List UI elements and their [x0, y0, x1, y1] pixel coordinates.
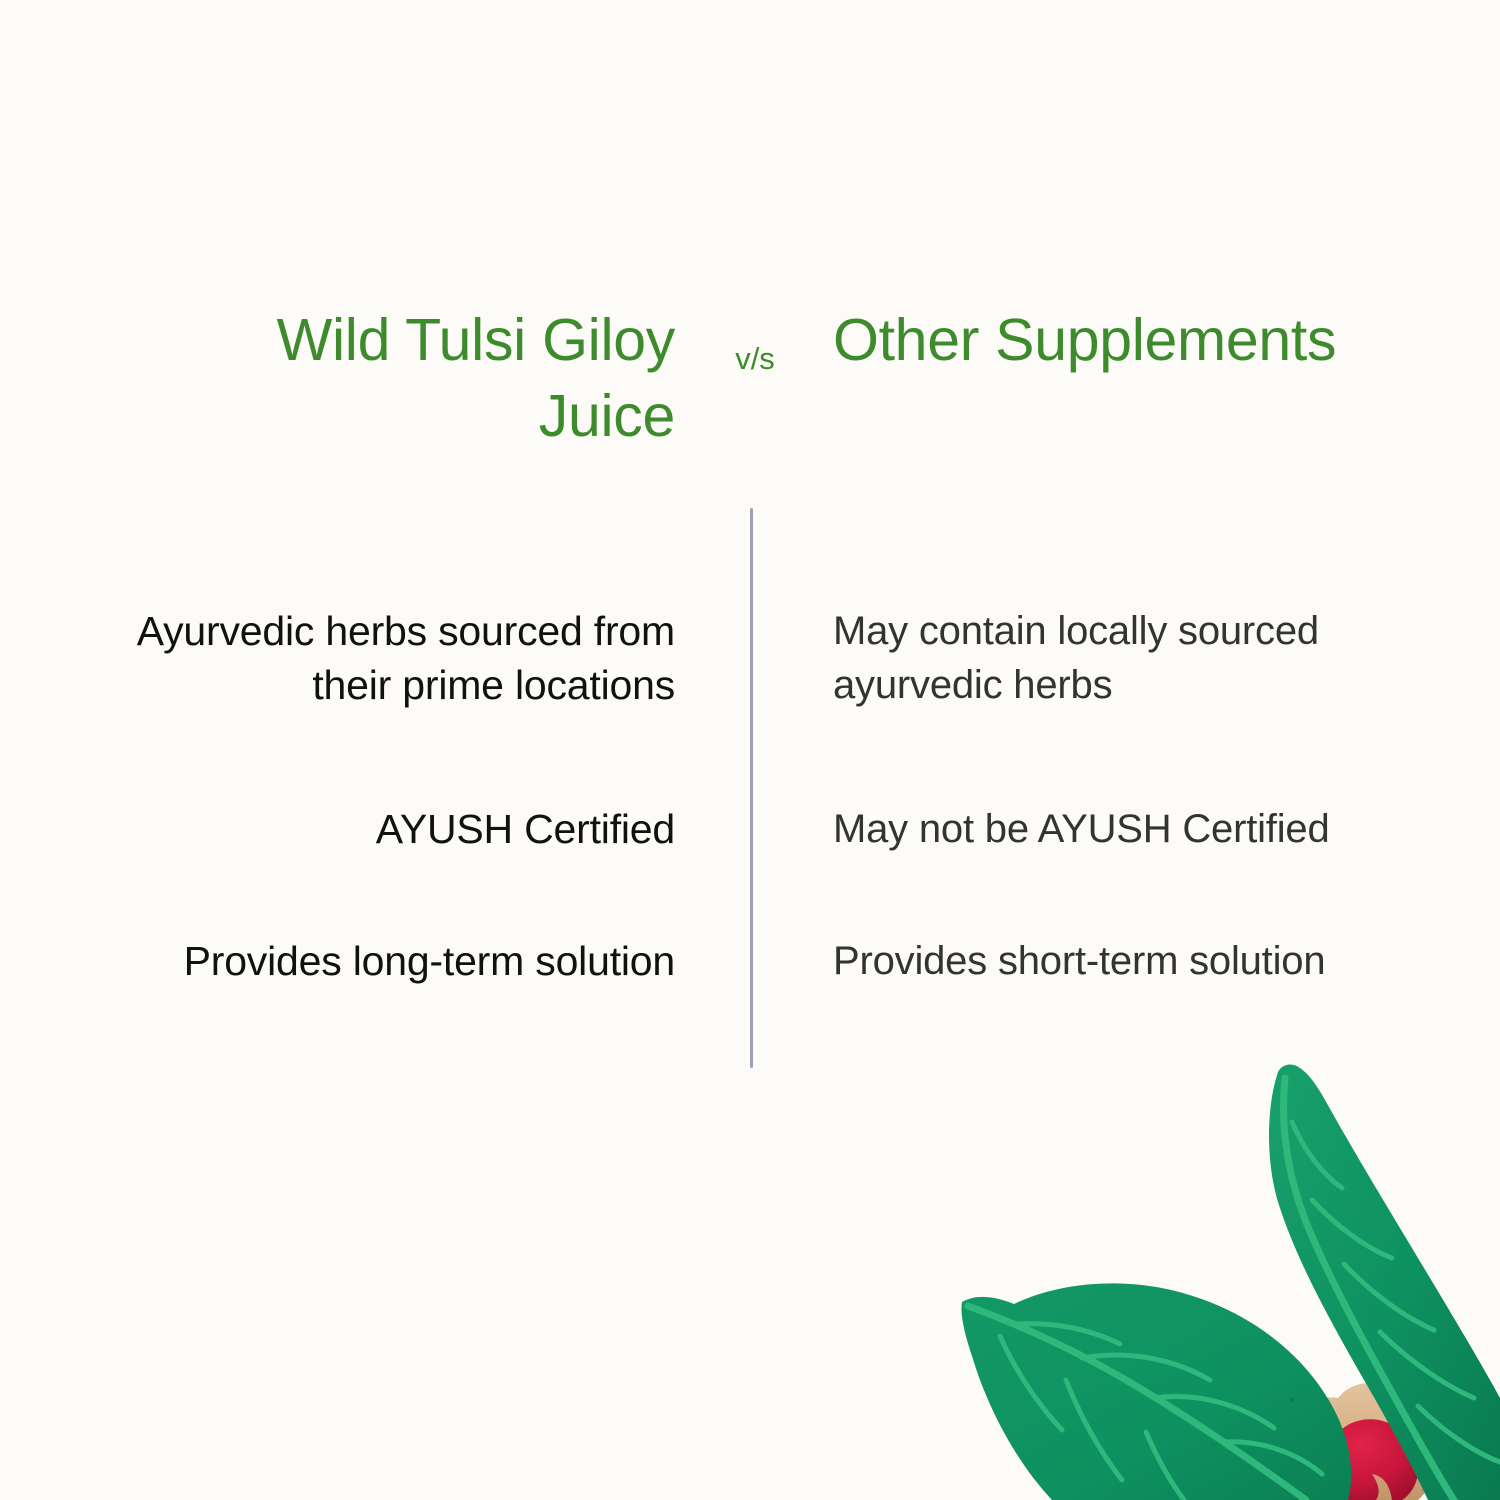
comparison-cell-left: AYUSH Certified: [120, 802, 675, 856]
comparison-rows: Ayurvedic herbs sourced from their prime…: [0, 0, 1500, 1500]
comparison-cell-left: Provides long-term solution: [120, 934, 675, 988]
comparison-cell-right: Provides short-term solution: [833, 934, 1433, 988]
comparison-cell-left: Ayurvedic herbs sourced from their prime…: [120, 604, 675, 712]
comparison-cell-right: May contain locally sourced ayurvedic he…: [833, 604, 1433, 712]
infographic-canvas: Wild Tulsi Giloy Juice v/s Other Supplem…: [0, 0, 1500, 1500]
comparison-cell-right: May not be AYUSH Certified: [833, 802, 1433, 856]
